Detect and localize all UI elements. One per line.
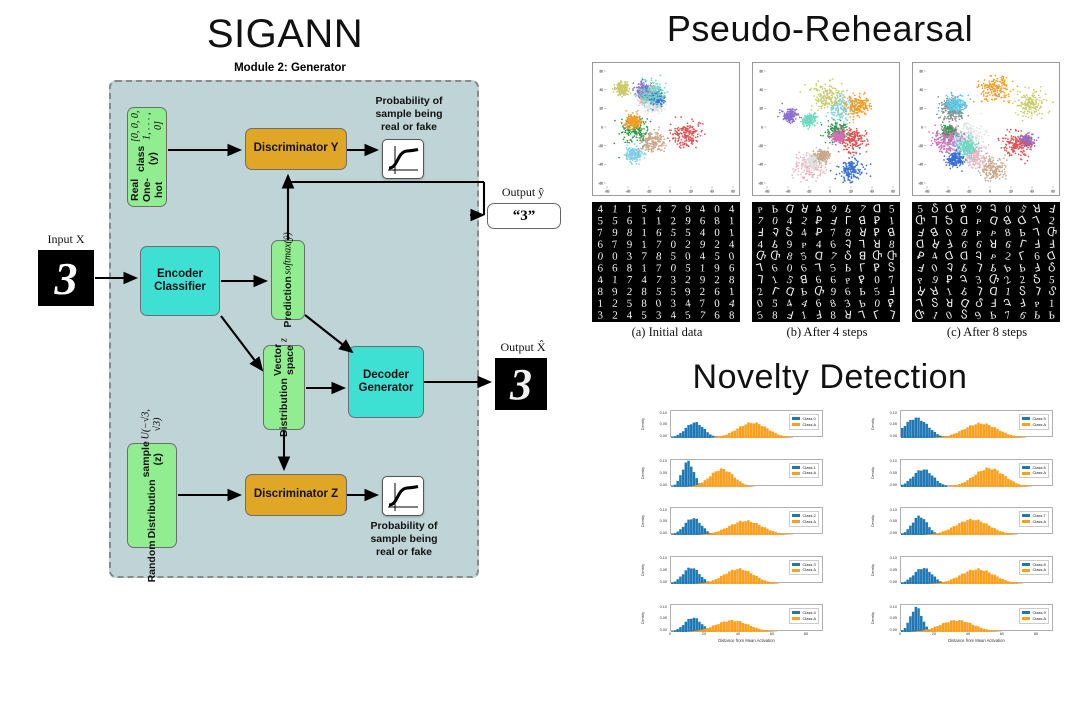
svg-text:ꓷ: ꓷ xyxy=(873,203,882,215)
svg-text:Ь: Ь xyxy=(843,203,852,216)
svg-text:0: 0 xyxy=(714,203,721,215)
novelty-histogram-class-class-7: Class 7Class A0.000.050.10Density xyxy=(870,505,1055,550)
novelty-histogram-class-class-8: Class 8Class A0.000.050.10Density xyxy=(870,554,1055,599)
svg-text:8: 8 xyxy=(888,238,896,251)
y-tick-label: 0.10 xyxy=(877,556,897,560)
svg-text:ꓞ: ꓞ xyxy=(888,286,895,298)
svg-text:4: 4 xyxy=(597,203,603,215)
svg-text:ꓤ: ꓤ xyxy=(858,226,868,239)
svg-text:7: 7 xyxy=(699,298,706,310)
y-tick-label: 0.05 xyxy=(647,519,667,523)
svg-text:6: 6 xyxy=(714,286,720,298)
x-tick-label: 0 xyxy=(662,632,678,636)
svg-text:1: 1 xyxy=(888,215,895,228)
svg-text:8: 8 xyxy=(626,262,632,274)
y-axis-label: Density xyxy=(641,564,645,576)
legend-label: Class A xyxy=(1032,519,1046,525)
legend: Class 9Class A xyxy=(1019,608,1049,624)
x-tick-label: 80 xyxy=(798,632,814,636)
svg-text:ꓶ: ꓶ xyxy=(756,262,765,275)
svg-text:7: 7 xyxy=(626,274,633,286)
svg-text:Ꝑ: Ꝑ xyxy=(857,273,868,287)
svg-text:ꓞ: ꓞ xyxy=(829,215,838,228)
svg-text:6: 6 xyxy=(815,297,823,310)
svg-text:40: 40 xyxy=(759,88,763,92)
svg-text:Ꝑ: Ꝑ xyxy=(873,215,881,228)
svg-text:5: 5 xyxy=(829,262,838,275)
svg-text:Ⴢ: Ⴢ xyxy=(784,225,795,239)
svg-text:8: 8 xyxy=(641,298,647,310)
legend-swatch xyxy=(792,472,800,475)
svg-text:1: 1 xyxy=(729,215,735,227)
svg-text:5: 5 xyxy=(670,286,676,298)
plot-frame: Class 7Class A xyxy=(900,507,1053,534)
svg-text:-20: -20 xyxy=(647,190,652,194)
y-tick-label: 0.05 xyxy=(877,471,897,475)
svg-text:Ⴢ: Ⴢ xyxy=(844,249,853,263)
tsne-plot-0: 60-6040-4020-2000-2020-4040-6060 xyxy=(592,62,740,196)
svg-text:6: 6 xyxy=(612,262,619,274)
plot-frame: Class 6Class A xyxy=(900,459,1053,486)
svg-text:5: 5 xyxy=(670,250,677,262)
svg-text:8: 8 xyxy=(830,309,837,321)
svg-text:0: 0 xyxy=(714,298,721,311)
plot-frame: Class 0Class A xyxy=(670,410,823,437)
y-tick-label: 0.05 xyxy=(877,422,897,426)
svg-text:1: 1 xyxy=(612,203,618,215)
subcaption-a: (a) Initial data xyxy=(592,325,742,340)
novelty-histogram-class-class-5: Class 5Class A0.000.050.10Density xyxy=(870,408,1055,453)
legend: Class 0Class A xyxy=(789,414,819,430)
legend-label: Class A xyxy=(802,470,816,476)
y-axis-label: Density xyxy=(871,467,875,479)
legend-swatch xyxy=(1022,611,1030,614)
svg-text:5: 5 xyxy=(889,203,896,215)
svg-text:Ꮈ: Ꮈ xyxy=(844,238,852,251)
y-tick-label: 0.10 xyxy=(647,556,667,560)
legend-item: Class A xyxy=(1022,519,1046,525)
novelty-histogram-class-class-1: Class 1Class A0.000.050.10Density xyxy=(640,457,825,502)
svg-text:4: 4 xyxy=(787,215,793,227)
svg-text:5: 5 xyxy=(612,215,619,228)
mnist-sample-grid-0: 4115479404556112968179816554016791702924… xyxy=(592,202,740,322)
svg-text:7: 7 xyxy=(655,274,662,287)
svg-text:Ь: Ь xyxy=(859,286,866,298)
svg-text:6: 6 xyxy=(714,309,721,321)
plot-frame: Class 5Class A xyxy=(900,410,1053,437)
y-tick-label: 0.00 xyxy=(647,531,667,535)
subcaption-b: (b) After 4 steps xyxy=(752,325,902,340)
svg-text:ᴘ: ᴘ xyxy=(844,274,852,287)
svg-text:7: 7 xyxy=(656,262,662,274)
y-axis-label: Density xyxy=(641,467,645,479)
svg-text:6: 6 xyxy=(597,239,603,251)
svg-text:60: 60 xyxy=(759,69,763,73)
svg-text:4: 4 xyxy=(728,297,736,310)
x-tick-label: 40 xyxy=(960,632,976,636)
svg-text:1: 1 xyxy=(800,309,808,321)
legend-label: Class A xyxy=(802,616,816,622)
svg-text:-60: -60 xyxy=(758,181,763,185)
y-tick-label: 0.00 xyxy=(877,531,897,535)
svg-text:3: 3 xyxy=(597,309,604,321)
svg-text:1: 1 xyxy=(597,298,603,310)
svg-text:ꓶ: ꓶ xyxy=(815,262,823,275)
svg-text:5: 5 xyxy=(684,309,691,321)
svg-text:2: 2 xyxy=(670,215,677,228)
svg-text:4: 4 xyxy=(816,239,823,251)
svg-text:Ƽ: Ƽ xyxy=(772,298,778,310)
svg-text:7: 7 xyxy=(597,227,605,240)
svg-text:6: 6 xyxy=(700,215,706,227)
legend: Class 5Class A xyxy=(1019,414,1049,430)
svg-text:20: 20 xyxy=(759,107,763,111)
svg-text:9: 9 xyxy=(612,227,618,239)
svg-text:0: 0 xyxy=(612,251,618,263)
svg-text:Ꝑ: Ꝑ xyxy=(873,226,882,239)
svg-text:4: 4 xyxy=(700,227,706,239)
legend-label: Class A xyxy=(1032,567,1046,573)
legend-swatch xyxy=(1022,514,1030,517)
svg-text:Ⴝ: Ⴝ xyxy=(887,261,896,275)
svg-text:-40: -40 xyxy=(758,163,763,167)
legend: Class 4Class A xyxy=(789,608,819,624)
svg-text:0: 0 xyxy=(874,274,881,286)
svg-text:3: 3 xyxy=(670,298,677,310)
svg-text:ꓞ: ꓞ xyxy=(785,309,794,321)
legend-label: Class A xyxy=(1032,616,1046,622)
y-axis-label: Density xyxy=(641,612,645,624)
y-axis-label: Density xyxy=(641,418,645,430)
svg-text:9: 9 xyxy=(612,286,618,298)
svg-text:7: 7 xyxy=(830,227,837,240)
plot-frame: Class 8Class A xyxy=(900,556,1053,583)
svg-text:5: 5 xyxy=(597,215,603,227)
svg-text:-20: -20 xyxy=(598,144,603,148)
legend-swatch xyxy=(792,417,800,420)
svg-text:8: 8 xyxy=(729,309,735,321)
svg-text:5: 5 xyxy=(670,227,677,240)
y-axis-label: Density xyxy=(871,612,875,624)
svg-text:1: 1 xyxy=(700,262,706,274)
svg-text:4: 4 xyxy=(729,203,736,215)
svg-text:1: 1 xyxy=(627,203,633,215)
svg-text:4: 4 xyxy=(729,239,735,251)
legend-swatch xyxy=(1022,466,1030,469)
x-axis-label: Distance from Mean Activation xyxy=(670,638,823,643)
svg-text:ꓞ: ꓞ xyxy=(814,309,823,321)
pseudo-rehearsal-title: Pseudo-Rehearsal xyxy=(576,8,1064,50)
svg-text:0: 0 xyxy=(829,190,831,194)
legend-swatch xyxy=(792,563,800,566)
svg-text:2: 2 xyxy=(685,274,691,286)
svg-text:ꓶ: ꓶ xyxy=(858,309,867,321)
y-tick-label: 0.05 xyxy=(877,519,897,523)
svg-text:5: 5 xyxy=(627,298,633,310)
mnist-sample-grid-1: ᴘЬꓷꓤ49Ь7ꓷ57042ꝐꓞᒥꓭꝐ1ꓞᎸჂ4Ꝑ78ꓤꝐꓭ4Ь9ᴘ46Ꮈꓶꓤ8… xyxy=(752,202,900,322)
svg-text:8: 8 xyxy=(829,297,838,310)
svg-text:9: 9 xyxy=(830,286,837,298)
svg-text:9: 9 xyxy=(699,239,706,252)
svg-text:60: 60 xyxy=(891,190,895,194)
svg-text:Ꝑ: Ꝑ xyxy=(872,262,881,275)
svg-text:0: 0 xyxy=(786,262,793,275)
svg-text:4: 4 xyxy=(627,309,633,321)
legend-label: Class A xyxy=(802,567,816,573)
svg-text:8: 8 xyxy=(729,274,735,286)
y-axis-label: Density xyxy=(641,515,645,527)
svg-text:4: 4 xyxy=(597,274,604,287)
svg-text:6: 6 xyxy=(770,262,780,275)
svg-text:5: 5 xyxy=(756,309,765,321)
svg-text:6: 6 xyxy=(799,262,809,275)
svg-text:5: 5 xyxy=(685,227,691,239)
legend-swatch xyxy=(792,514,800,517)
svg-text:-20: -20 xyxy=(807,190,812,194)
svg-text:Ꝑ: Ꝑ xyxy=(815,227,824,240)
svg-text:0: 0 xyxy=(601,125,603,129)
svg-text:0: 0 xyxy=(728,250,736,263)
svg-text:5: 5 xyxy=(873,285,882,298)
y-tick-label: 0.05 xyxy=(877,616,897,620)
y-tick-label: 0.05 xyxy=(877,568,897,572)
svg-text:-60: -60 xyxy=(605,190,610,194)
svg-text:4: 4 xyxy=(641,274,647,286)
svg-text:ꓭ: ꓭ xyxy=(799,274,808,287)
svg-text:5: 5 xyxy=(641,310,647,321)
svg-text:8: 8 xyxy=(626,227,633,240)
svg-text:8: 8 xyxy=(641,286,647,298)
legend-swatch xyxy=(792,611,800,614)
legend-item: Class A xyxy=(792,519,816,525)
svg-text:8: 8 xyxy=(655,250,662,263)
plot-frame: Class 1Class A xyxy=(670,459,823,486)
legend-swatch xyxy=(792,569,800,572)
legend-label: Class A xyxy=(802,519,816,525)
svg-text:Ь: Ь xyxy=(771,203,778,216)
svg-text:7: 7 xyxy=(656,239,663,251)
legend-item: Class A xyxy=(1022,567,1046,573)
svg-text:4: 4 xyxy=(670,309,677,321)
svg-text:4: 4 xyxy=(684,297,691,310)
legend-swatch xyxy=(792,520,800,523)
x-tick-label: 60 xyxy=(994,632,1010,636)
svg-text:-40: -40 xyxy=(786,190,791,194)
x-tick-label: 60 xyxy=(764,632,780,636)
y-tick-label: 0.10 xyxy=(647,508,667,512)
svg-text:ꓶ: ꓶ xyxy=(757,274,765,287)
svg-text:0: 0 xyxy=(669,190,671,194)
svg-text:5: 5 xyxy=(714,250,721,263)
x-axis-label: Distance from Mean Activation xyxy=(900,638,1053,643)
svg-text:0: 0 xyxy=(714,227,720,239)
svg-text:60: 60 xyxy=(599,69,603,73)
svg-text:4: 4 xyxy=(801,227,809,240)
mnist-sample-grid-2: 5ჂꓷꝐ9Ꮈ0ƼꓤꓞႧꓶჂꓷᴘꓷꓭꓷꓶ2ꓞꓭ08ᴘᴘ8ЬꓶႧꓷꓤꓞ66ꓤ6ᒥꓞꓞ… xyxy=(912,202,1060,322)
svg-text:6: 6 xyxy=(597,262,603,274)
svg-text:Ⴇ: Ⴇ xyxy=(872,249,882,262)
y-tick-label: 0.10 xyxy=(647,605,667,609)
svg-text:8: 8 xyxy=(598,286,604,298)
plot-frame: Class 3Class A xyxy=(670,556,823,583)
svg-text:9: 9 xyxy=(787,239,793,251)
svg-text:3: 3 xyxy=(626,250,633,262)
svg-text:7: 7 xyxy=(611,238,619,251)
novelty-histogram-class-class-6: Class 6Class A0.000.050.10Density xyxy=(870,457,1055,502)
y-tick-label: 0.00 xyxy=(647,580,667,584)
plot-frame: Class 4Class A xyxy=(670,604,823,631)
svg-text:0: 0 xyxy=(761,125,763,129)
y-tick-label: 0.10 xyxy=(647,411,667,415)
legend-swatch xyxy=(792,617,800,620)
novelty-histogram-class-class-9: Class 9Class A0.000.050.10Density0204060… xyxy=(870,602,1055,647)
svg-text:40: 40 xyxy=(599,88,603,92)
svg-text:ᴘ: ᴘ xyxy=(757,203,763,215)
y-tick-label: 0.10 xyxy=(877,459,897,463)
svg-text:7: 7 xyxy=(887,274,896,287)
legend-item: Class A xyxy=(792,616,816,622)
svg-text:1: 1 xyxy=(641,239,647,251)
svg-text:2: 2 xyxy=(685,239,692,252)
svg-text:1: 1 xyxy=(656,215,662,227)
y-tick-label: 0.10 xyxy=(877,508,897,512)
y-axis-label: Density xyxy=(871,418,875,430)
plot-frame: Class 2Class A xyxy=(670,507,823,534)
legend-label: Class A xyxy=(1032,470,1046,476)
svg-text:-40: -40 xyxy=(598,163,603,167)
x-tick-label: 20 xyxy=(696,632,712,636)
svg-text:40: 40 xyxy=(870,190,874,194)
legend-item: Class A xyxy=(1022,470,1046,476)
svg-text:6: 6 xyxy=(729,262,735,274)
diagram-arrows xyxy=(0,0,570,600)
legend-label: Class A xyxy=(802,422,816,428)
y-tick-label: 0.00 xyxy=(877,580,897,584)
svg-text:4: 4 xyxy=(699,203,707,216)
legend-item: Class A xyxy=(792,567,816,573)
tsne-plot-2: 60-6040-4020-2000-2020-4040-6060 xyxy=(912,62,1060,196)
svg-text:ꓶ: ꓶ xyxy=(859,239,866,252)
svg-text:-20: -20 xyxy=(758,144,763,148)
svg-text:7: 7 xyxy=(641,250,648,262)
svg-text:5: 5 xyxy=(656,286,663,298)
svg-text:8: 8 xyxy=(772,310,778,321)
legend: Class 2Class A xyxy=(789,511,819,527)
x-tick-label: 40 xyxy=(730,632,746,636)
y-tick-label: 0.00 xyxy=(877,483,897,487)
svg-text:6: 6 xyxy=(627,215,633,227)
svg-text:2: 2 xyxy=(612,309,618,321)
legend-swatch xyxy=(1022,563,1030,566)
y-tick-label: 0.05 xyxy=(647,422,667,426)
subcaption-c: (c) After 8 steps xyxy=(912,325,1062,340)
svg-text:2: 2 xyxy=(612,298,618,310)
svg-text:2: 2 xyxy=(714,274,720,286)
svg-text:ᴘ: ᴘ xyxy=(802,239,807,251)
svg-text:2: 2 xyxy=(700,286,706,298)
novelty-detection-title: Novelty Detection xyxy=(600,358,1060,397)
svg-text:6: 6 xyxy=(655,227,662,240)
novelty-histogram-class-class-2: Class 2Class A0.000.050.10Density xyxy=(640,505,825,550)
svg-text:1: 1 xyxy=(612,274,618,286)
svg-text:0: 0 xyxy=(670,239,676,251)
x-tick-label: 0 xyxy=(892,632,908,636)
svg-text:ꓞ: ꓞ xyxy=(757,227,764,239)
svg-text:ᒥ: ᒥ xyxy=(872,309,883,321)
legend-label: Class A xyxy=(1032,422,1046,428)
svg-text:7: 7 xyxy=(670,203,677,216)
svg-text:0: 0 xyxy=(597,250,604,263)
legend-swatch xyxy=(1022,423,1030,426)
svg-text:ꓷ: ꓷ xyxy=(814,250,824,263)
legend: Class 1Class A xyxy=(789,463,819,479)
svg-text:9: 9 xyxy=(700,274,706,286)
legend: Class 3Class A xyxy=(789,560,819,576)
legend-swatch xyxy=(1022,417,1030,420)
novelty-histogram-class-class-3: Class 3Class A0.000.050.10Density xyxy=(640,554,825,599)
legend-item: Class A xyxy=(792,470,816,476)
legend-swatch xyxy=(1022,520,1030,523)
x-tick-label: 80 xyxy=(1028,632,1044,636)
legend-item: Class A xyxy=(792,422,816,428)
svg-text:-40: -40 xyxy=(626,190,631,194)
svg-text:8: 8 xyxy=(713,215,721,228)
svg-text:1: 1 xyxy=(729,286,735,298)
svg-text:0: 0 xyxy=(670,262,677,275)
svg-text:1: 1 xyxy=(728,227,735,240)
tsne-plot-1: 60-6040-4020-2000-2020-4040-6060 xyxy=(752,62,900,196)
svg-text:4: 4 xyxy=(699,250,706,263)
y-axis-label: Density xyxy=(871,515,875,527)
svg-text:6: 6 xyxy=(829,274,837,287)
y-tick-label: 0.05 xyxy=(647,471,667,475)
svg-text:1: 1 xyxy=(641,262,647,274)
legend-item: Class A xyxy=(1022,616,1046,622)
y-tick-label: 0.10 xyxy=(877,605,897,609)
svg-text:Ь: Ь xyxy=(845,262,852,274)
svg-text:20: 20 xyxy=(849,190,853,194)
plot-frame: Class 9Class A xyxy=(900,604,1053,631)
legend-swatch xyxy=(1022,569,1030,572)
svg-text:2: 2 xyxy=(714,239,720,251)
svg-text:ꓶ: ꓶ xyxy=(887,309,896,321)
svg-text:0: 0 xyxy=(655,297,663,310)
svg-text:7: 7 xyxy=(757,215,765,228)
svg-text:5: 5 xyxy=(641,203,647,215)
svg-text:9: 9 xyxy=(685,215,692,228)
legend: Class 7Class A xyxy=(1019,511,1049,527)
svg-text:-60: -60 xyxy=(765,190,770,194)
svg-text:2: 2 xyxy=(800,215,808,228)
legend-swatch xyxy=(1022,472,1030,475)
legend-swatch xyxy=(792,466,800,469)
svg-text:5: 5 xyxy=(685,262,692,274)
y-tick-label: 0.05 xyxy=(647,616,667,620)
y-tick-label: 0.10 xyxy=(877,411,897,415)
svg-text:ꓤ: ꓤ xyxy=(873,239,881,251)
svg-text:3: 3 xyxy=(656,310,662,321)
y-tick-label: 0.00 xyxy=(647,434,667,438)
legend: Class 8Class A xyxy=(1019,560,1049,576)
svg-text:20: 20 xyxy=(689,190,693,194)
svg-text:9: 9 xyxy=(685,203,691,215)
svg-text:ꓤ: ꓤ xyxy=(844,309,853,321)
novelty-histogram-class-class-4: Class 4Class A0.000.050.10Density0204060… xyxy=(640,602,825,647)
svg-text:60: 60 xyxy=(731,190,735,194)
svg-text:20: 20 xyxy=(599,107,603,111)
svg-text:-60: -60 xyxy=(598,181,603,185)
y-tick-label: 0.00 xyxy=(647,483,667,487)
